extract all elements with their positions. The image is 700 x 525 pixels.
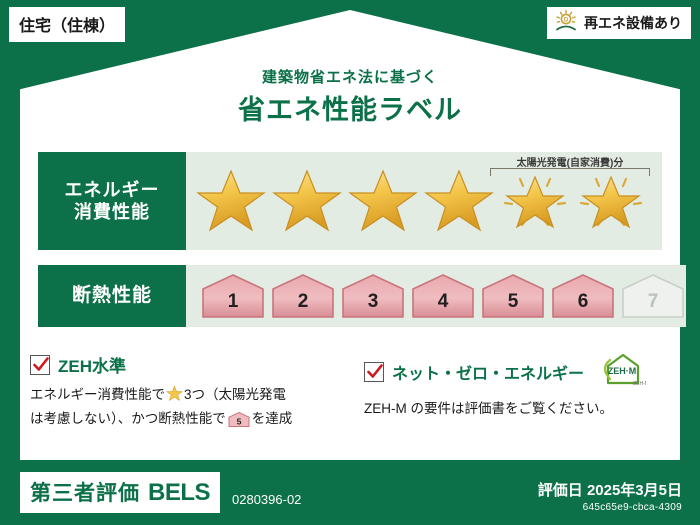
certification-checks: ZEH水準 エネルギー消費性能で3つ（太陽光発電 は考慮しない）、かつ断熱性能で…: [30, 352, 670, 435]
zeh-standard-head: ZEH水準: [30, 352, 342, 377]
star-4: [422, 164, 496, 238]
evaluation-date: 評価日 2025年3月5日: [538, 479, 682, 500]
inline-star-icon: [166, 390, 183, 405]
label-title: 省エネ性能ラベル: [0, 88, 700, 127]
zeh-standard-checkbox[interactable]: [30, 355, 50, 375]
zeh-desc-part1: エネルギー消費性能で: [30, 387, 165, 402]
net-zero-description: ZEH-M の要件は評価書をご覧ください。: [364, 399, 662, 420]
insulation-chip-1-value: 1: [228, 291, 239, 319]
insulation-performance-label: 断熱性能: [38, 265, 186, 327]
check-icon: [32, 356, 50, 374]
evaluation-date-value: 2025年3月5日: [587, 482, 682, 499]
insulation-chip-6: 6: [550, 273, 616, 319]
energy-label-line1: エネルギー: [65, 179, 160, 202]
net-zero-head: ネット・ゼロ・エネルギー ZEH·M ZEH-M: [364, 352, 662, 391]
star-1: [194, 164, 268, 238]
renewable-equipment-badge: D 再エネ設備あり: [546, 6, 692, 40]
label-subtitle: 建築物省エネ法に基づく: [0, 66, 700, 87]
net-zero-title: ネット・ゼロ・エネルギー: [392, 360, 584, 384]
svg-text:ZEH-M: ZEH-M: [633, 381, 646, 386]
bels-en-label: BELS: [148, 479, 210, 507]
renewable-badge-label: 再エネ設備あり: [584, 13, 682, 33]
zeh-standard-title: ZEH水準: [58, 352, 126, 377]
star-rating: [186, 164, 662, 238]
insulation-performance-row: 断熱性能 1 2: [38, 265, 662, 327]
insulation-chip-7-value: 7: [648, 291, 659, 319]
insulation-chip-2-value: 2: [298, 291, 309, 319]
star-6-solar: [574, 164, 648, 238]
svg-text:ZEH·M: ZEH·M: [608, 366, 637, 376]
insulation-chip-3-value: 3: [368, 291, 379, 319]
zeh-desc-part2: は考慮しない）、かつ断熱性能で: [30, 411, 226, 426]
insulation-chip-1: 1: [200, 273, 266, 319]
solar-panel-icon: D: [553, 9, 579, 38]
net-zero-energy-block: ネット・ゼロ・エネルギー ZEH·M ZEH-M ZEH-M の要件は評価書をご…: [350, 352, 670, 435]
insulation-chip-4-value: 4: [438, 291, 449, 319]
evaluation-date-label: 評価日: [538, 482, 583, 499]
svg-text:5: 5: [236, 416, 241, 426]
insulation-chip-6-value: 6: [578, 291, 589, 319]
zeh-desc-star-count: 3つ（太陽光発電: [184, 387, 286, 402]
insulation-chips-area: 1 2 3 4: [186, 265, 686, 327]
evaluation-id: 645c65e9-cbca-4309: [538, 502, 682, 513]
check-icon: [366, 363, 384, 381]
insulation-chip-7: 7: [620, 273, 686, 319]
zeh-desc-part3: を達成: [252, 411, 293, 426]
evaluation-info: 評価日 2025年3月5日 645c65e9-cbca-4309: [538, 479, 682, 513]
insulation-chip-5-value: 5: [508, 291, 519, 319]
insulation-chip-4: 4: [410, 273, 476, 319]
zeh-standard-description: エネルギー消費性能で3つ（太陽光発電 は考慮しない）、かつ断熱性能で5を達成: [30, 385, 342, 435]
star-3: [346, 164, 420, 238]
star-5-solar: [498, 164, 572, 238]
category-tag: 住宅（住棟）: [8, 6, 126, 43]
net-zero-checkbox[interactable]: [364, 362, 384, 382]
energy-performance-row: エネルギー 消費性能 太陽光発電(自家消費)分: [38, 152, 662, 250]
insulation-chip-2: 2: [270, 273, 336, 319]
bels-third-party-badge: 第三者評価 BELS: [20, 472, 220, 513]
insulation-chip-list: 1 2 3 4: [186, 273, 686, 319]
zeh-m-logo-icon: ZEH·M ZEH-M: [594, 352, 646, 391]
insulation-chip-5: 5: [480, 273, 546, 319]
bels-jp-label: 第三者評価: [30, 477, 140, 507]
zeh-standard-block: ZEH水準 エネルギー消費性能で3つ（太陽光発電 は考慮しない）、かつ断熱性能で…: [30, 352, 350, 435]
energy-performance-label: 住宅（住棟） D 再エネ設備あり 建築物省エネ法に基づく 省エネ性: [0, 0, 700, 525]
svg-text:D: D: [564, 17, 569, 23]
star-2: [270, 164, 344, 238]
energy-stars-area: 太陽光発電(自家消費)分: [186, 152, 662, 250]
energy-performance-label: エネルギー 消費性能: [38, 152, 186, 250]
energy-label-line2: 消費性能: [74, 201, 150, 224]
insulation-chip-3: 3: [340, 273, 406, 319]
bels-certificate-number: 0280396-02: [232, 492, 301, 507]
inline-insulation-chip: 5: [228, 416, 250, 431]
